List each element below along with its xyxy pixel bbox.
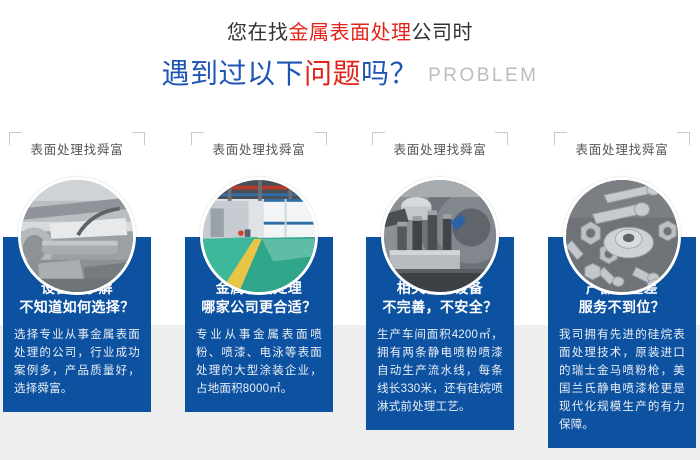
card-body-text: 生产车间面积4200㎡，拥有两条静电喷粉喷漆自动生产流水线，每条线长330米，还… bbox=[377, 326, 503, 416]
bracket-corner-top-left-icon bbox=[9, 132, 22, 145]
heading-line1-pre: 您在找 bbox=[227, 22, 289, 44]
card-tag-label: 表面处理找舜富 bbox=[575, 139, 668, 158]
heading-english-label: PROBLEM bbox=[428, 65, 538, 86]
problem-card-4[interactable]: 表面处理找舜富 bbox=[548, 132, 696, 448]
card-body-text: 我司拥有先进的硅烷表面处理技术，原装进口的瑞士金马喷粉枪，美国兰氏静电喷漆枪更是… bbox=[559, 326, 685, 434]
card-tag-3: 表面处理找舜富 bbox=[372, 132, 508, 164]
page-heading: 您在找金属表面处理公司时 遇到过以下问题吗？PROBLEM bbox=[0, 18, 700, 95]
heading-line-2: 遇到过以下问题吗？PROBLEM bbox=[0, 55, 700, 95]
page-root: 您在找金属表面处理公司时 遇到过以下问题吗？PROBLEM 表面处理找舜富 bbox=[0, 0, 700, 460]
card-tag-2: 表面处理找舜富 bbox=[191, 132, 327, 164]
bracket-corner-top-right-icon bbox=[677, 132, 690, 145]
lathe-machining-photo bbox=[18, 177, 136, 295]
heading-line1-post: 公司时 bbox=[412, 22, 474, 44]
card-title-line-2: 不完善，不安全？ bbox=[377, 298, 503, 317]
bracket-corner-top-right-icon bbox=[132, 132, 145, 145]
factory-workshop-photo bbox=[200, 177, 318, 295]
card-tag-label: 表面处理找舜富 bbox=[212, 139, 305, 158]
bracket-corner-top-left-icon bbox=[372, 132, 385, 145]
card-title-line-2: 服务不到位？ bbox=[559, 298, 685, 317]
card-body-text: 选择专业从事金属表面处理的公司，行业成功案例多，产品质量好，选择舜富。 bbox=[14, 326, 140, 398]
coated-fasteners-photo bbox=[563, 177, 681, 295]
card-tag-4: 表面处理找舜富 bbox=[554, 132, 690, 164]
bracket-corner-top-right-icon bbox=[495, 132, 508, 145]
heading-line2-pre: 遇到过以下 bbox=[162, 58, 305, 89]
card-panel-1: 设备不了解 不知道如何选择？ 选择专业从事金属表面处理的公司，行业成功案例多，产… bbox=[3, 237, 151, 412]
card-body-text: 专业从事金属表面喷粉、喷漆、电泳等表面处理的大型涂装企业，占地面积8000㎡。 bbox=[196, 326, 322, 398]
card-title-line-2: 哪家公司更合适？ bbox=[196, 298, 322, 317]
heading-line-1: 您在找金属表面处理公司时 bbox=[0, 18, 700, 48]
special-equipment-photo bbox=[381, 177, 499, 295]
problem-card-3[interactable]: 表面处理找舜富 bbox=[366, 132, 514, 430]
card-tag-label: 表面处理找舜富 bbox=[30, 139, 123, 158]
card-title-line-2: 不知道如何选择？ bbox=[14, 298, 140, 317]
card-panel-2: 金属表面处理 哪家公司更合适？ 专业从事金属表面喷粉、喷漆、电泳等表面处理的大型… bbox=[185, 237, 333, 412]
problem-card-1[interactable]: 表面处理找舜富 bbox=[3, 132, 151, 412]
card-tag-1: 表面处理找舜富 bbox=[9, 132, 145, 164]
card-panel-4: 产品质量差 服务不到位？ 我司拥有先进的硅烷表面处理技术，原装进口的瑞士金马喷粉… bbox=[548, 237, 696, 448]
bracket-corner-top-left-icon bbox=[191, 132, 204, 145]
card-tag-label: 表面处理找舜富 bbox=[393, 139, 486, 158]
card-panel-3: 相关特种设备 不完善，不安全？ 生产车间面积4200㎡，拥有两条静电喷粉喷漆自动… bbox=[366, 237, 514, 430]
bracket-corner-top-left-icon bbox=[554, 132, 567, 145]
heading-line1-highlight: 金属表面处理 bbox=[289, 22, 412, 44]
heading-line2-highlight: 问题 bbox=[304, 58, 361, 89]
heading-line2-post: 吗？ bbox=[361, 58, 418, 89]
problem-card-2[interactable]: 表面处理找舜富 bbox=[185, 132, 333, 412]
bracket-corner-top-right-icon bbox=[314, 132, 327, 145]
